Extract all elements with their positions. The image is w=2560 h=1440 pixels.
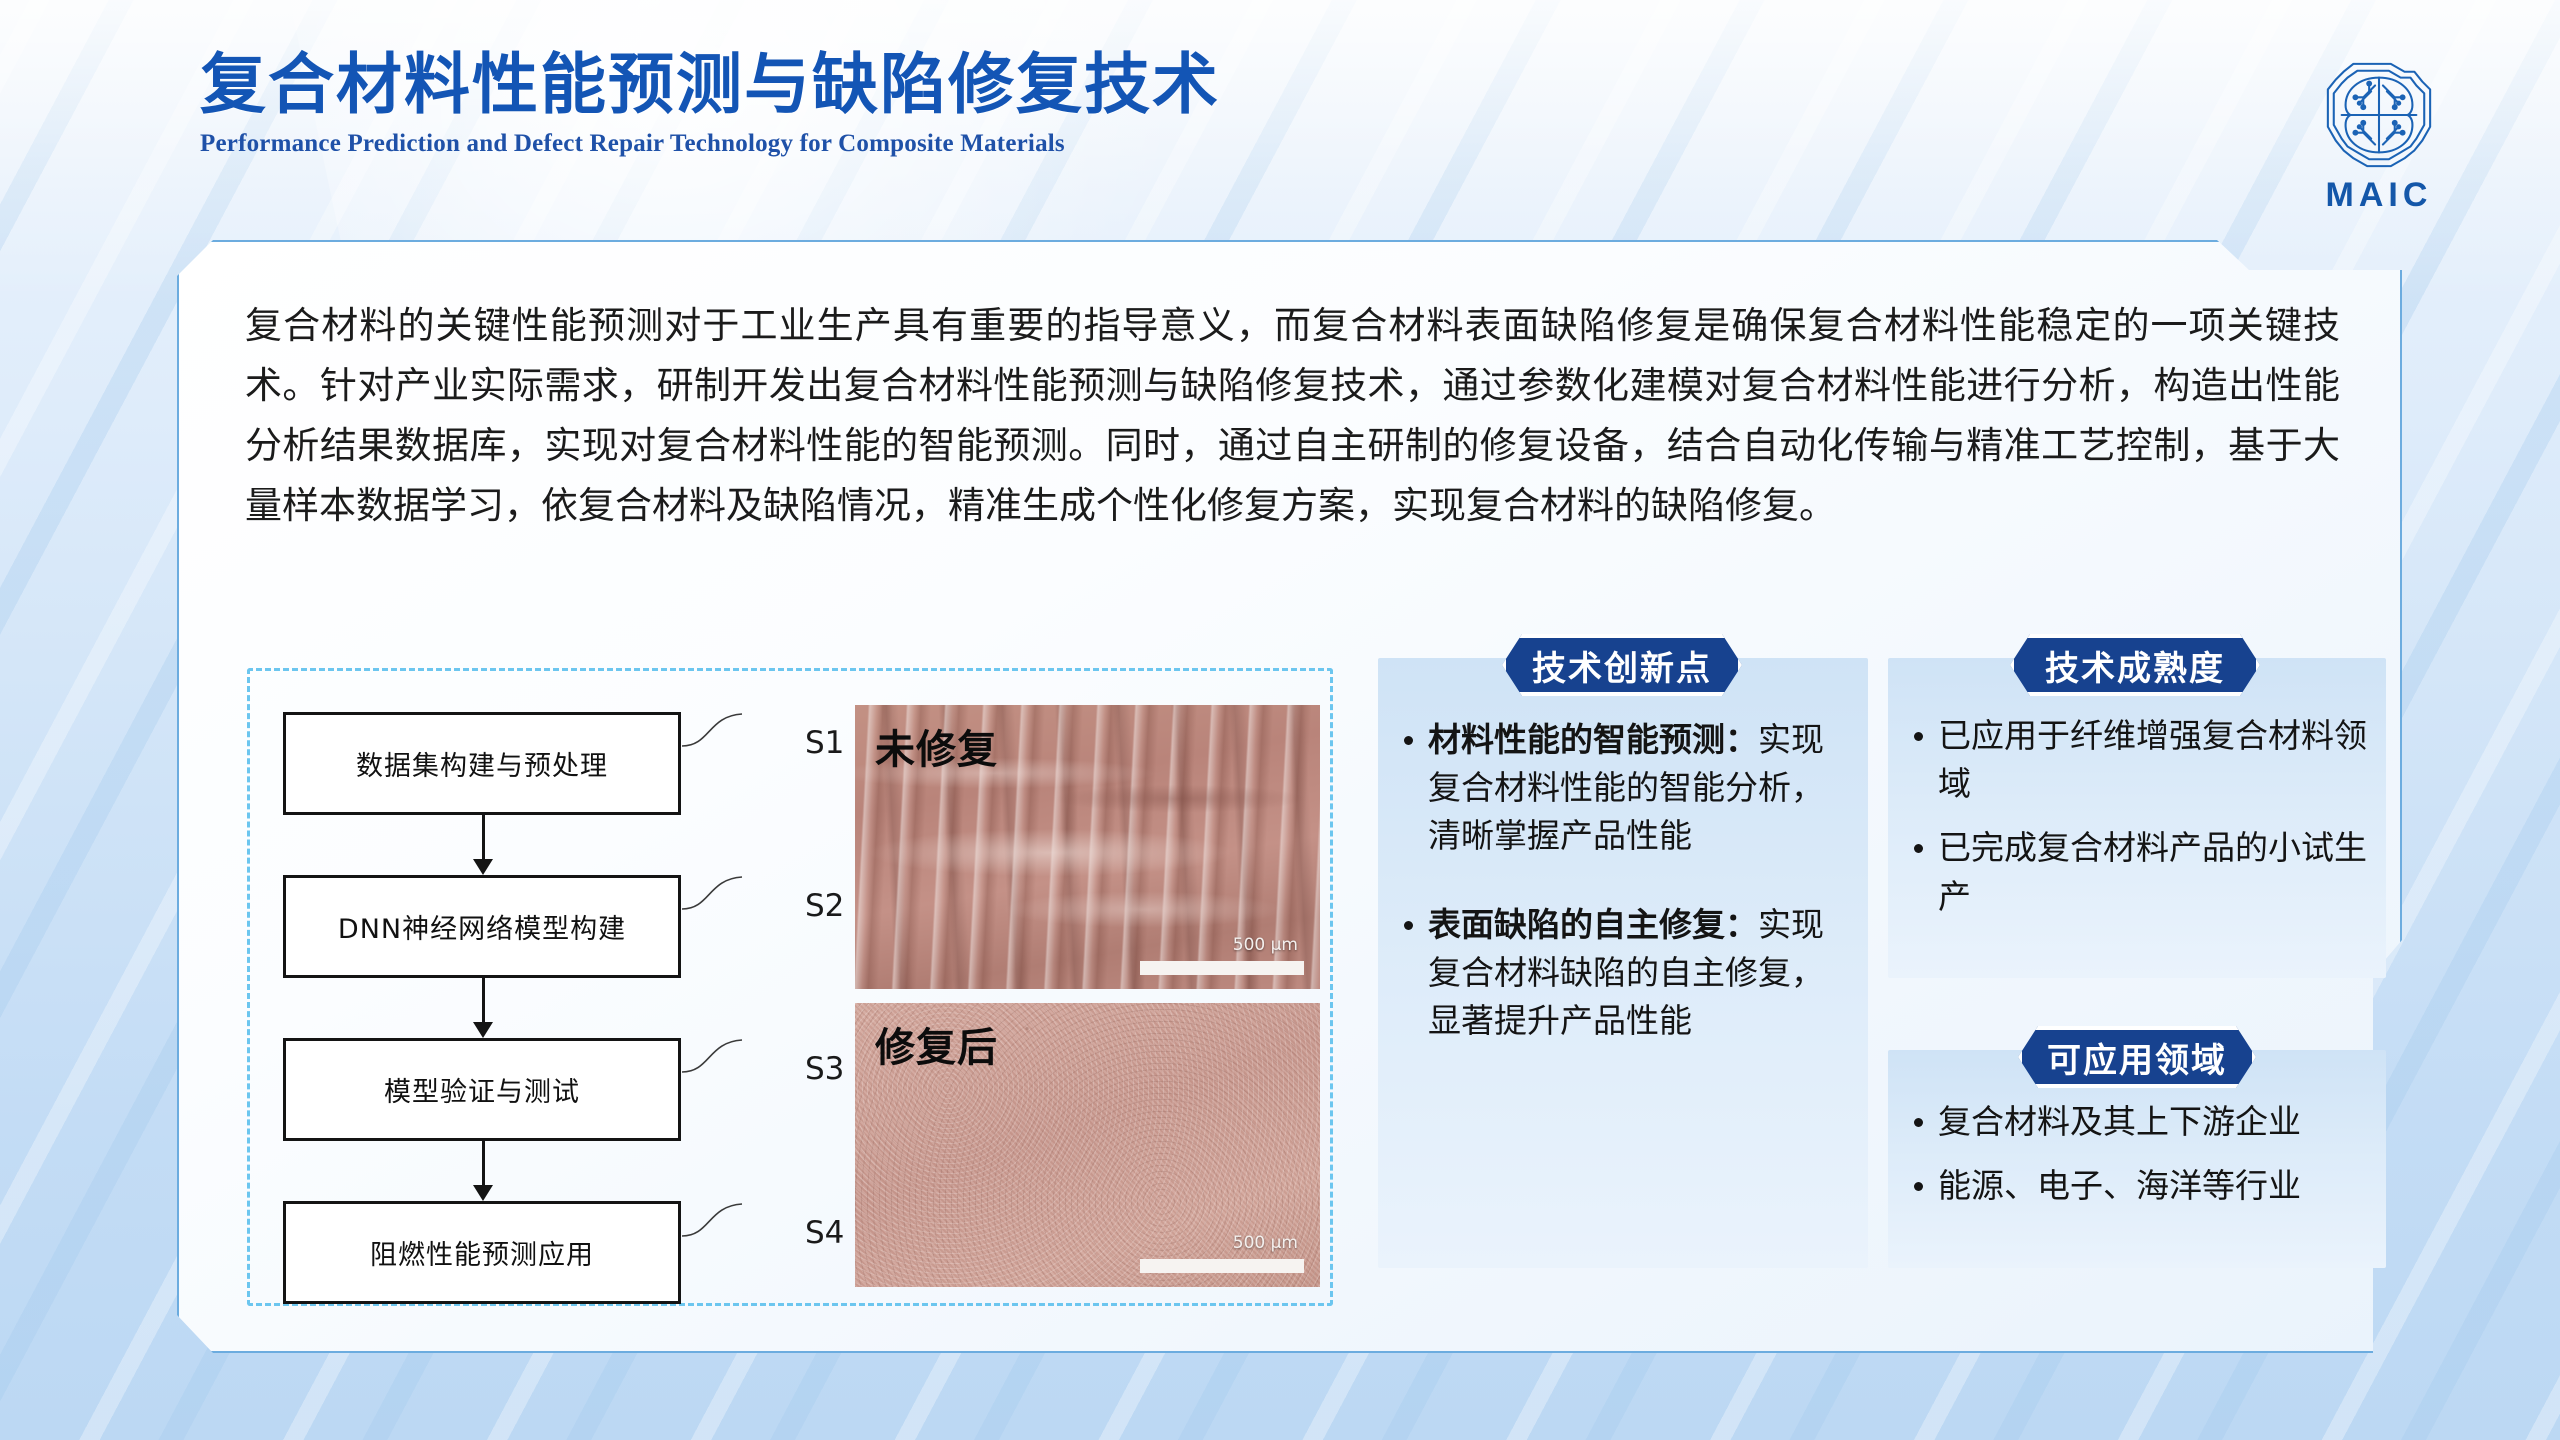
flow-node-2: DNN神经网络模型构建 bbox=[283, 875, 681, 978]
badge-maturity-label: 技术成熟度 bbox=[2045, 641, 2225, 690]
list-item-text: 已完成复合材料产品的小试生产 bbox=[1938, 828, 2367, 915]
badge-innovation: 技术创新点 bbox=[1502, 634, 1742, 696]
logo-wordmark: MAIC bbox=[2326, 176, 2433, 215]
flow-arrow-2 bbox=[283, 978, 681, 1038]
page-title-cn: 复合材料性能预测与缺陷修复技术 bbox=[200, 48, 1900, 122]
micrograph-scale-text-2: 500 μm bbox=[1233, 1233, 1298, 1253]
list-item: 表面缺陷的自主修复：实现复合材料缺陷的自主修复，显著提升产品性能 bbox=[1398, 901, 1850, 1046]
list-item: 已应用于纤维增强复合材料领域 bbox=[1908, 712, 2370, 808]
body-paragraph-block: 复合材料的关键性能预测对于工业生产具有重要的指导意义，而复合材料表面缺陷修复是确… bbox=[245, 296, 2340, 536]
micrograph-scale-bar-1 bbox=[1140, 961, 1304, 975]
badge-innovation-label: 技术创新点 bbox=[1532, 641, 1712, 690]
body-paragraph: 复合材料的关键性能预测对于工业生产具有重要的指导意义，而复合材料表面缺陷修复是确… bbox=[245, 296, 2340, 536]
maturity-list: 已应用于纤维增强复合材料领域 已完成复合材料产品的小试生产 bbox=[1908, 712, 2370, 937]
list-item-text: 已应用于纤维增强复合材料领域 bbox=[1938, 716, 2367, 803]
flow-node-4: 阻燃性能预测应用 bbox=[283, 1201, 681, 1304]
flow-arrow-1 bbox=[283, 815, 681, 875]
flow-node-1: 数据集构建与预处理 bbox=[283, 712, 681, 815]
micrograph-label-unrepaired: 未修复 bbox=[875, 717, 998, 775]
flow-step-label-s4: S4 bbox=[805, 1215, 844, 1251]
micrograph-repaired: 修复后 500 μm bbox=[855, 1003, 1320, 1287]
micrograph-scale-text-1: 500 μm bbox=[1233, 935, 1298, 955]
flow-step-label-s3: S3 bbox=[805, 1051, 844, 1087]
flowchart: 数据集构建与预处理 DNN神经网络模型构建 模型验证与测试 阻燃性能预测应用 bbox=[283, 712, 683, 1304]
list-item-lead: 表面缺陷的自主修复： bbox=[1428, 905, 1758, 944]
flow-node-3: 模型验证与测试 bbox=[283, 1038, 681, 1141]
badge-maturity: 技术成熟度 bbox=[2010, 634, 2260, 696]
micrograph-unrepaired: 未修复 500 μm bbox=[855, 705, 1320, 989]
page-header: 复合材料性能预测与缺陷修复技术 Performance Prediction a… bbox=[200, 48, 1900, 158]
badge-application: 可应用领域 bbox=[2018, 1026, 2256, 1088]
list-item-lead: 材料性能的智能预测： bbox=[1428, 720, 1758, 759]
micrograph-scale-bar-2 bbox=[1140, 1259, 1304, 1273]
micrograph-label-repaired: 修复后 bbox=[875, 1015, 998, 1073]
list-item: 已完成复合材料产品的小试生产 bbox=[1908, 824, 2370, 920]
flow-arrow-3 bbox=[283, 1141, 681, 1201]
list-item: 材料性能的智能预测：实现复合材料性能的智能分析，清晰掌握产品性能 bbox=[1398, 716, 1850, 861]
brain-circuit-logo-icon bbox=[2320, 56, 2438, 174]
slide-root: 复合材料性能预测与缺陷修复技术 Performance Prediction a… bbox=[0, 0, 2560, 1440]
flow-step-label-s1: S1 bbox=[805, 725, 844, 761]
flow-step-label-s2: S2 bbox=[805, 888, 844, 924]
page-title-en: Performance Prediction and Defect Repair… bbox=[200, 130, 1900, 158]
list-item: 能源、电子、海洋等行业 bbox=[1908, 1162, 2370, 1210]
list-item: 复合材料及其上下游企业 bbox=[1908, 1098, 2370, 1146]
badge-application-label: 可应用领域 bbox=[2047, 1033, 2227, 1082]
list-item-text: 能源、电子、海洋等行业 bbox=[1938, 1166, 2301, 1205]
application-list: 复合材料及其上下游企业 能源、电子、海洋等行业 bbox=[1908, 1098, 2370, 1226]
maic-logo: MAIC bbox=[2294, 56, 2464, 216]
innovation-list: 材料性能的智能预测：实现复合材料性能的智能分析，清晰掌握产品性能 表面缺陷的自主… bbox=[1398, 716, 1850, 1085]
list-item-text: 复合材料及其上下游企业 bbox=[1938, 1102, 2301, 1141]
